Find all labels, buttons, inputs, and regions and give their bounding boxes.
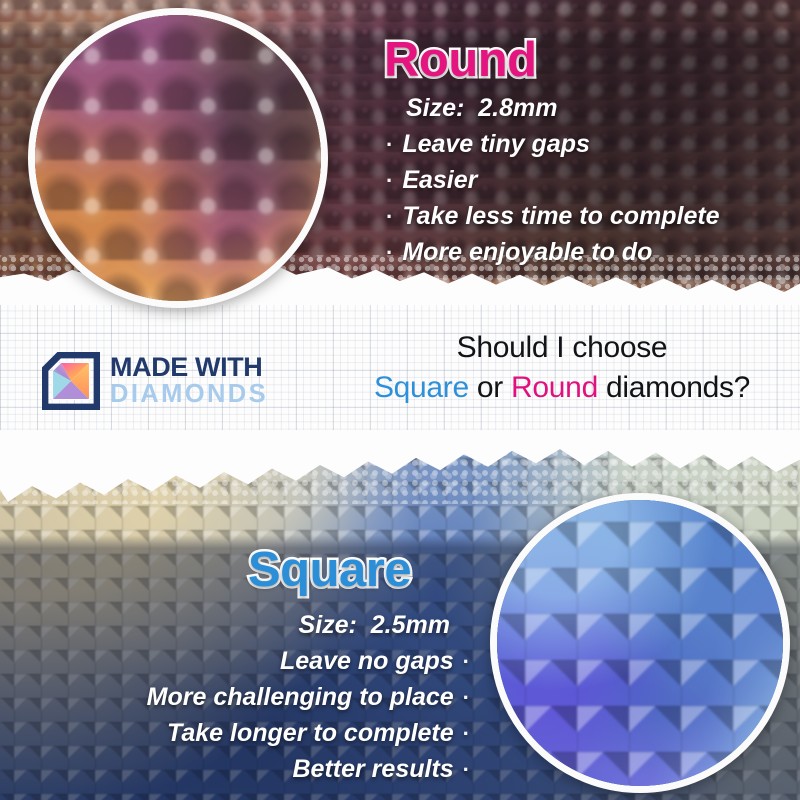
brand-name-line1: MADE WITH <box>110 354 268 381</box>
square-size-value: 2.5mm <box>371 611 450 639</box>
square-bullet-label: More challenging to place <box>147 679 454 715</box>
square-title: Square <box>248 546 411 595</box>
square-bullet-label: Take longer to complete <box>167 715 454 751</box>
question-line-1: Should I choose <box>332 328 792 368</box>
question-connector: or <box>469 371 511 404</box>
bullet-dot-icon: · <box>386 206 393 228</box>
question-tail: diamonds? <box>598 371 750 404</box>
bullet-dot-icon: · <box>463 651 470 673</box>
square-size-row: Size: 2.5mm <box>147 607 470 643</box>
round-title: Round <box>384 36 537 85</box>
bullet-dot-icon: · <box>463 759 470 781</box>
round-size-text: Size: 2.8mm <box>386 90 557 126</box>
round-bullet-row: · Easier <box>386 162 720 198</box>
diamond-gem-icon <box>42 352 100 410</box>
square-size-text: Size: 2.5mm <box>299 607 470 643</box>
square-size-label: Size: <box>299 611 357 639</box>
round-closeup-image <box>28 8 328 308</box>
round-bullet-label: Take less time to complete <box>402 198 719 234</box>
round-bullet-row: · Leave tiny gaps <box>386 126 720 162</box>
round-spec-list: Size: 2.8mm · Leave tiny gaps · Easier ·… <box>386 90 720 270</box>
bullet-dot-icon: · <box>386 242 393 264</box>
question-square-word: Square <box>374 371 469 404</box>
round-bullet-row: · Take less time to complete <box>386 198 720 234</box>
square-diamond-closeup-circle <box>490 493 790 793</box>
brand-wordmark: MADE WITH DIAMONDS <box>110 354 268 408</box>
bullet-dot-icon: · <box>386 134 393 156</box>
square-bullet-row: Better results · <box>147 751 470 787</box>
square-bullet-row: Take longer to complete · <box>147 715 470 751</box>
round-size-value: 2.8mm <box>478 94 557 122</box>
bullet-dot-icon: · <box>386 170 393 192</box>
square-closeup-image <box>490 493 790 793</box>
square-bullet-label: Better results <box>293 751 454 787</box>
round-diamond-closeup-circle <box>28 8 328 308</box>
round-bullet-label: Easier <box>402 162 477 198</box>
round-size-row: Size: 2.8mm <box>386 90 720 126</box>
question-line-2: Square or Round diamonds? <box>332 368 792 408</box>
brand-logo[interactable]: MADE WITH DIAMONDS <box>42 352 268 410</box>
square-spec-list: Size: 2.5mm Leave no gaps · More challen… <box>147 607 470 787</box>
round-bullet-label: Leave tiny gaps <box>402 126 590 162</box>
square-bullet-label: Leave no gaps <box>280 643 454 679</box>
diamond-painting-comparison-infographic: Round Size: 2.8mm · Leave tiny gaps · Ea… <box>0 0 800 800</box>
question-heading: Should I choose Square or Round diamonds… <box>332 328 792 408</box>
bullet-dot-icon: · <box>463 687 470 709</box>
question-round-word: Round <box>511 371 598 404</box>
square-bullet-row: Leave no gaps · <box>147 643 470 679</box>
bullet-dot-icon: · <box>463 723 470 745</box>
round-bullet-label: More enjoyable to do <box>402 234 652 270</box>
square-bullet-row: More challenging to place · <box>147 679 470 715</box>
round-size-label: Size: <box>406 94 464 122</box>
round-bullet-row: · More enjoyable to do <box>386 234 720 270</box>
brand-name-line2: DIAMONDS <box>110 382 268 408</box>
